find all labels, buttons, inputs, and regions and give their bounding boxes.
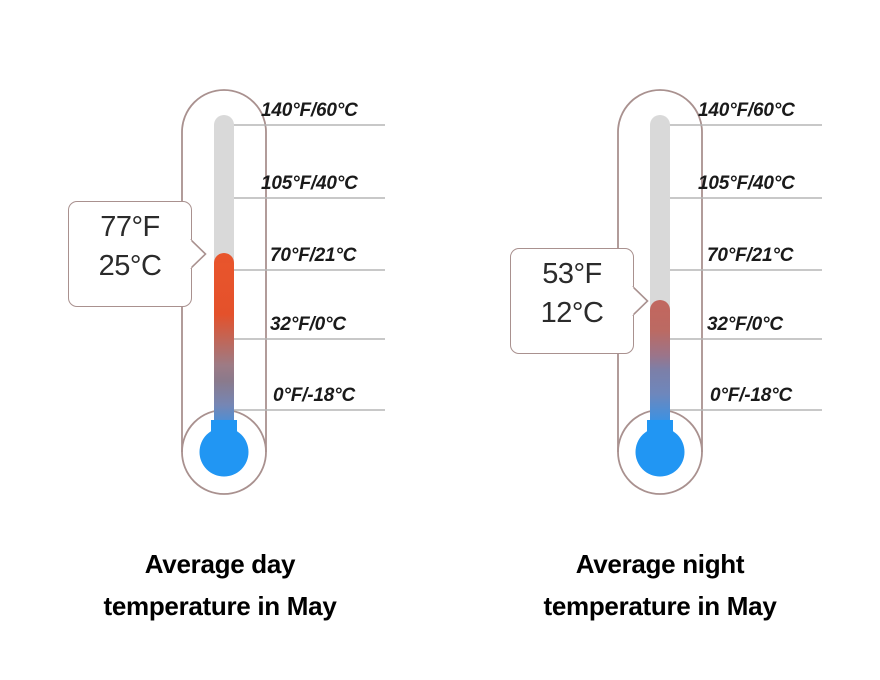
tick-label-105f: 105°F/40°C <box>698 173 795 195</box>
tick-label-140f: 140°F/60°C <box>698 100 795 122</box>
day-readout-celsius: 25°C <box>69 247 191 286</box>
night-readout-fahrenheit: 53°F <box>511 255 633 294</box>
day-temperature-callout[interactable]: 77°F 25°C <box>68 201 192 307</box>
night-caption-line-2: temperature in May <box>440 585 880 627</box>
night-temperature-callout[interactable]: 53°F 12°C <box>510 248 634 354</box>
night-caption-line-1: Average night <box>440 543 880 585</box>
tick-label-105f: 105°F/40°C <box>261 173 358 195</box>
thermometer-bulb-neck <box>211 420 237 452</box>
night-caption: Average night temperature in May <box>440 543 880 627</box>
night-thermometer-panel: 140°F/60°C 105°F/40°C 70°F/21°C 32°F/0°C… <box>440 0 880 680</box>
thermometer-bulb-neck <box>647 420 673 452</box>
day-callout-pointer-icon <box>190 239 207 269</box>
tick-label-0f: 0°F/-18°C <box>710 385 792 407</box>
day-caption-line-1: Average day <box>0 543 440 585</box>
tick-label-32f: 32°F/0°C <box>707 314 783 336</box>
tick-label-32f: 32°F/0°C <box>270 314 346 336</box>
tick-label-140f: 140°F/60°C <box>261 100 358 122</box>
tick-label-70f: 70°F/21°C <box>270 245 356 267</box>
day-caption-line-2: temperature in May <box>0 585 440 627</box>
thermometer-chart: 140°F/60°C 105°F/40°C 70°F/21°C 32°F/0°C… <box>0 0 880 680</box>
night-callout-pointer-icon <box>632 286 649 316</box>
day-readout-fahrenheit: 77°F <box>69 208 191 247</box>
tick-label-70f: 70°F/21°C <box>707 245 793 267</box>
tick-label-0f: 0°F/-18°C <box>273 385 355 407</box>
day-caption: Average day temperature in May <box>0 543 440 627</box>
day-thermometer-panel: 140°F/60°C 105°F/40°C 70°F/21°C 32°F/0°C… <box>0 0 440 680</box>
night-readout-celsius: 12°C <box>511 294 633 333</box>
